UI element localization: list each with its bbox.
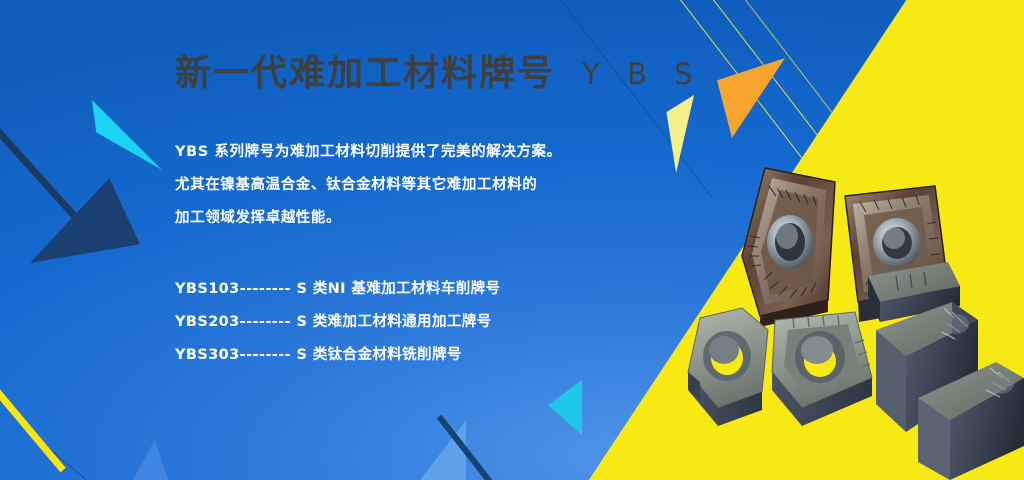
grade-item-ybs203: YBS203-------- S 类难加工材料通用加工牌号 [175, 306, 645, 339]
grade-item-ybs303: YBS303-------- S 类钛合金材料铣削牌号 [175, 339, 645, 372]
description-paragraph: YBS 系列牌号为难加工材料切削提供了完美的解决方案。 尤其在镍基高温合金、钛合… [175, 136, 645, 235]
grade-item-ybs103: YBS103-------- S 类NI 基难加工材料车削牌号 [175, 273, 645, 306]
promo-banner: 新一代难加工材料牌号 Y B S YBS 系列牌号为难加工材料切削提供了完美的解… [0, 0, 1024, 480]
title-main: 新一代难加工材料牌号 [175, 56, 555, 92]
description-line-1: YBS 系列牌号为难加工材料切削提供了完美的解决方案。 [175, 136, 645, 169]
page-title: 新一代难加工材料牌号 Y B S [175, 56, 645, 92]
title-suffix: Y B S [582, 60, 701, 89]
copy-block: 新一代难加工材料牌号 Y B S YBS 系列牌号为难加工材料切削提供了完美的解… [175, 56, 645, 372]
description-line-2: 尤其在镍基高温合金、钛合金材料等其它难加工材料的 [175, 169, 645, 202]
grade-list: YBS103-------- S 类NI 基难加工材料车削牌号 YBS203--… [175, 273, 645, 372]
description-line-3: 加工领域发挥卓越性能。 [175, 202, 645, 235]
